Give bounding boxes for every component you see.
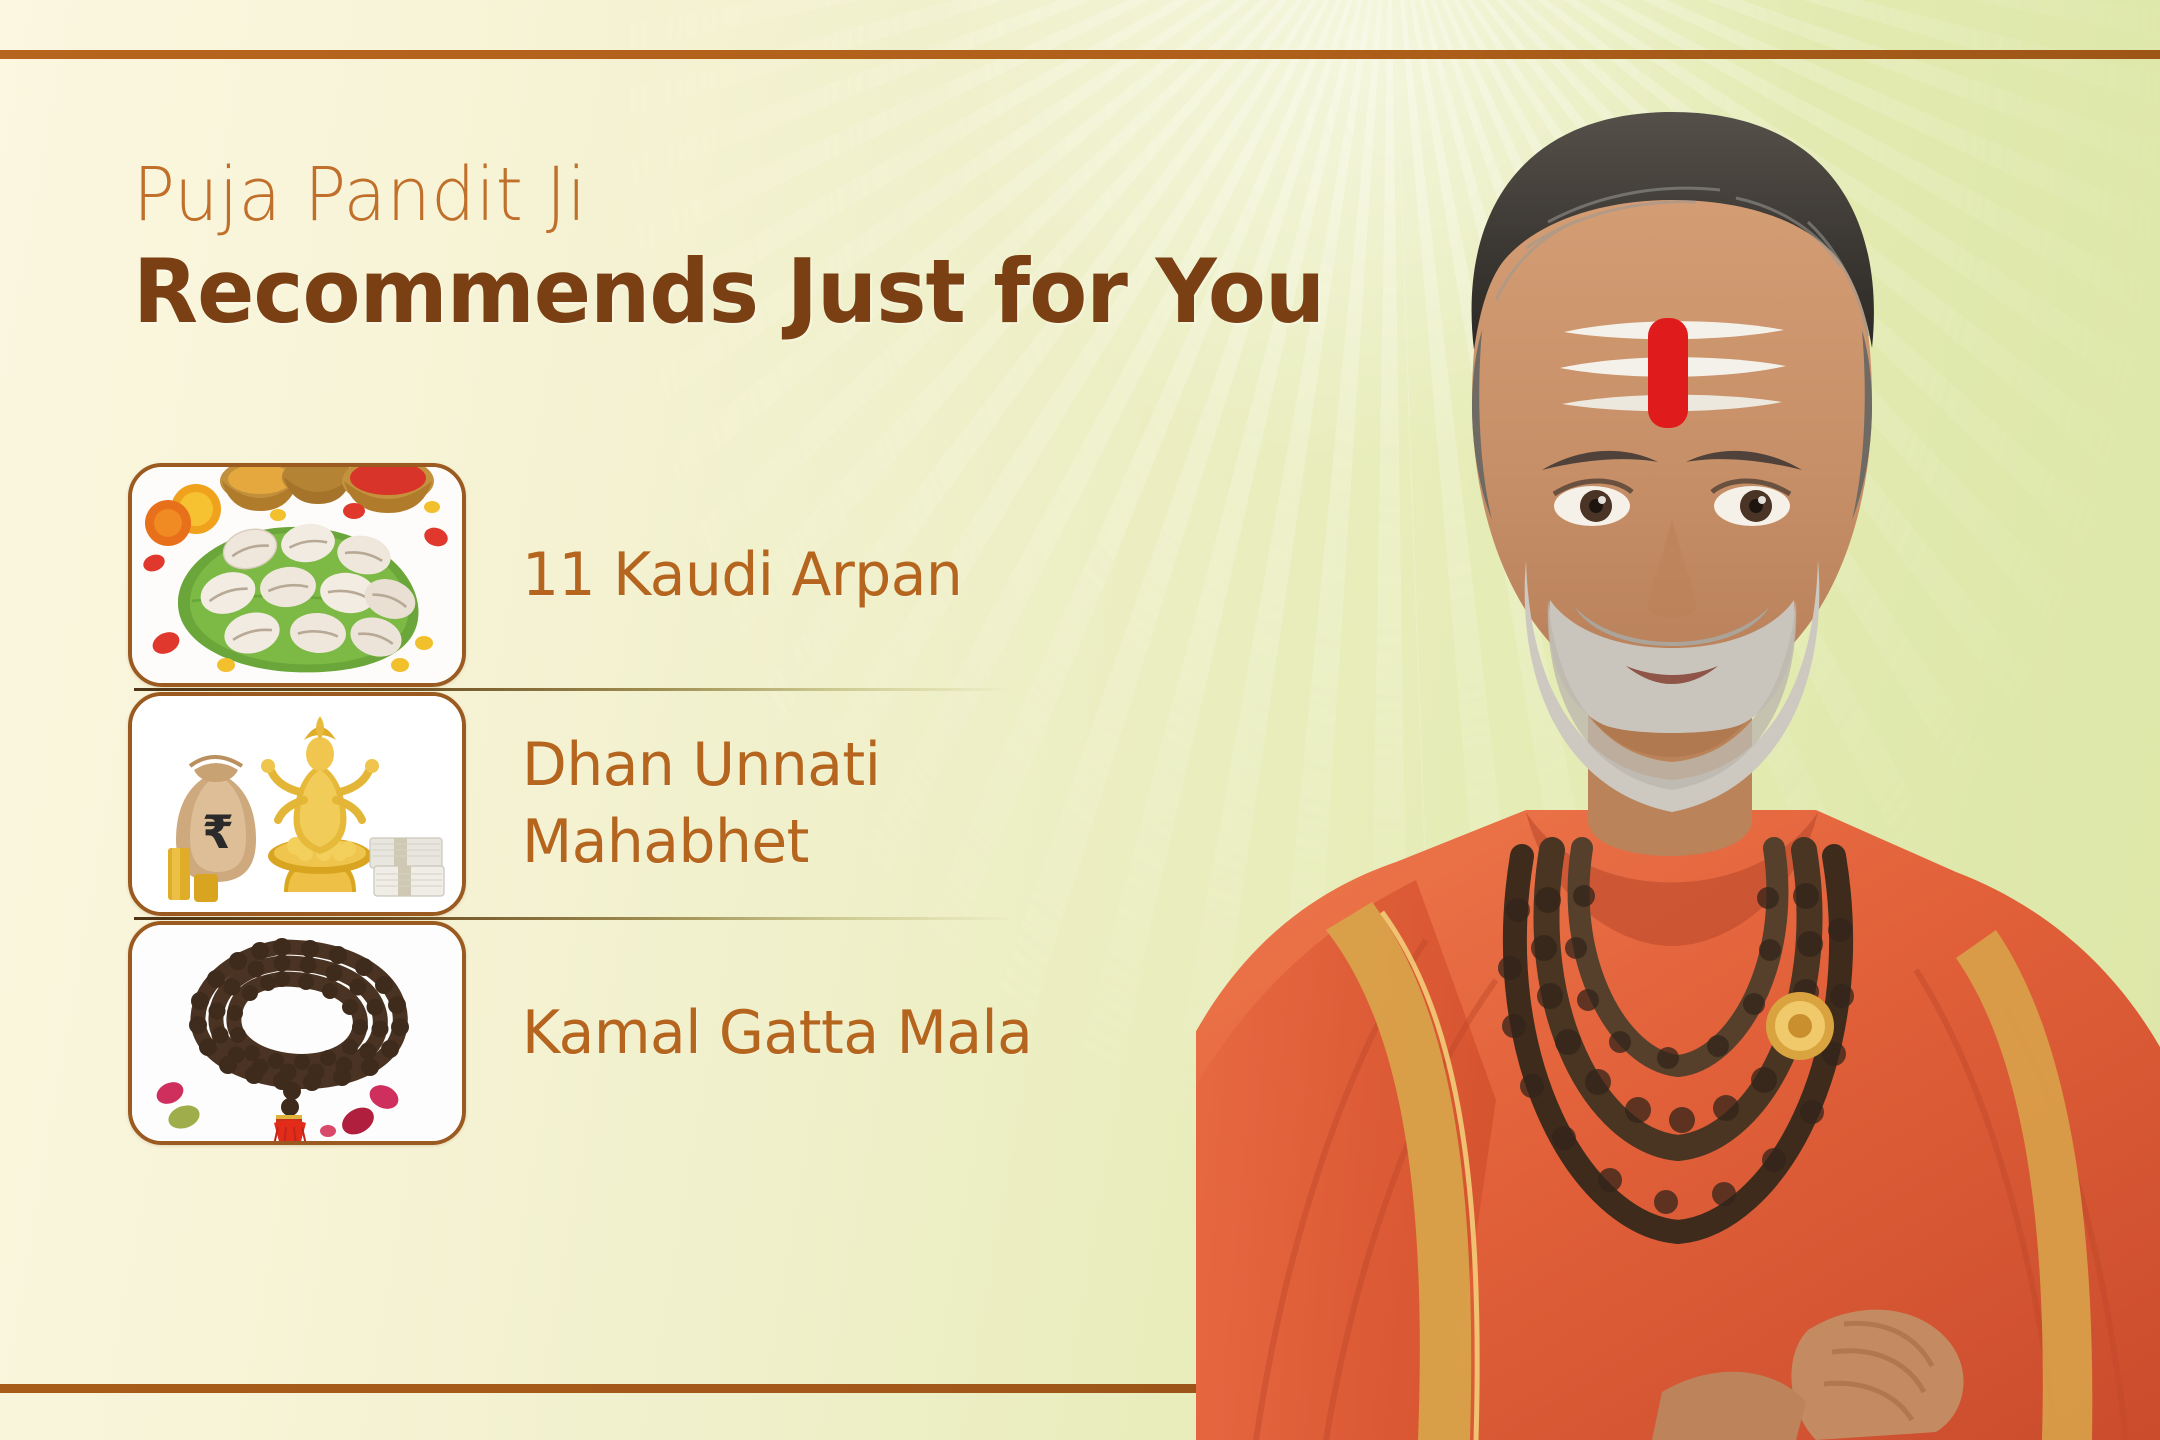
- left-content-panel: Puja Pandit Ji Recommends Just for You: [0, 0, 1200, 1440]
- list-item[interactable]: 11 Kaudi Arpan: [128, 462, 1178, 688]
- list-item-label: Kamal Gatta Mala: [522, 995, 1032, 1072]
- list-item-label: 11 Kaudi Arpan: [522, 537, 962, 614]
- headline-block: Puja Pandit Ji Recommends Just for You: [133, 158, 1173, 336]
- list-item-label: Dhan Unnati Mahabhet: [522, 727, 1158, 881]
- list-item[interactable]: Kamal Gatta Mala: [128, 920, 1178, 1146]
- headline-line-2: Recommends Just for You: [133, 248, 1131, 336]
- promo-banner: Puja Pandit Ji Recommends Just for You: [0, 0, 2160, 1440]
- lakshmi-idol-money-bag-thumbnail[interactable]: ₹: [128, 692, 466, 916]
- list-item[interactable]: ₹: [128, 691, 1178, 917]
- lotus-seed-mala-thumbnail[interactable]: [128, 921, 466, 1145]
- kaudi-shells-on-betel-leaf-thumbnail[interactable]: [128, 463, 466, 687]
- recommended-items-list: 11 Kaudi Arpan ₹: [128, 462, 1178, 1146]
- svg-text:₹: ₹: [202, 805, 234, 859]
- headline-line-1: Puja Pandit Ji: [133, 158, 1111, 232]
- pandit-portrait: [1196, 0, 2160, 1440]
